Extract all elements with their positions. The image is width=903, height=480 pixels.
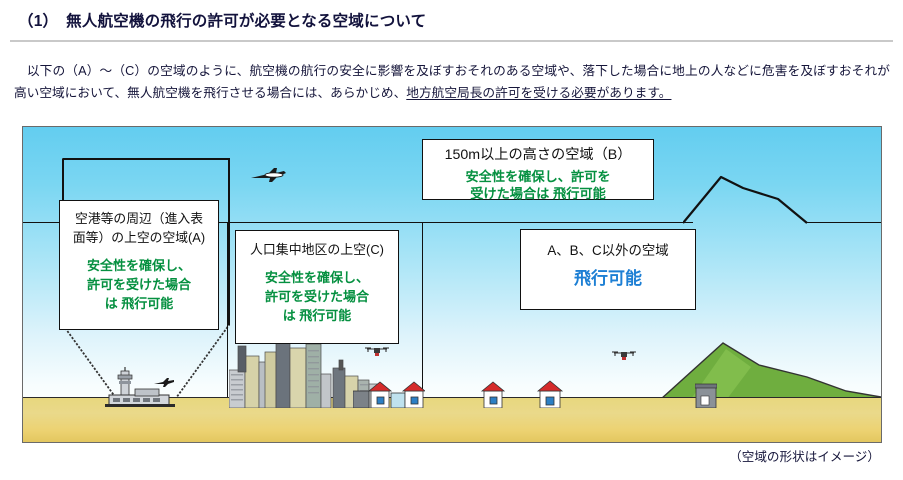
shed-icon	[695, 381, 717, 408]
altitude-150m-mountain-peak-line	[683, 157, 823, 227]
zone-a-heading-line2: 面等）の上空の空域(A)	[60, 228, 218, 247]
hill-icon	[631, 339, 881, 399]
houses-center-icon	[353, 379, 425, 408]
altitude-150m-line-middle	[212, 222, 693, 223]
page-title: （1） 無人航空機の飛行の許可が必要となる空域について	[18, 9, 426, 31]
zone-c-status-line1: 安全性を確保し、	[236, 268, 398, 287]
callout-box-other-airspace: A、B、C以外の空域 飛行可能	[520, 229, 696, 310]
zone-b-status: 安全性を確保し、許可を 受けた場合は 飛行可能	[423, 168, 653, 202]
intro-paragraph-emphasis: 地方航空局長の許可を受ける必要があります。	[406, 86, 671, 100]
title-divider	[10, 40, 893, 42]
zone-a-status-line3: は 飛行可能	[60, 294, 218, 313]
zone-b-status-line2: 受けた場合は 飛行可能	[423, 185, 653, 202]
callout-box-zone-b: 150m以上の高さの空域（B） 安全性を確保し、許可を 受けた場合は 飛行可能	[422, 139, 654, 200]
airplane-high-icon	[248, 165, 288, 185]
figure-caption: （空域の形状はイメージ）	[0, 446, 880, 465]
airplane-low-icon	[153, 377, 175, 388]
drone-icon	[364, 345, 390, 359]
airspace-diagram: 150m以上の高さの空域（B） 安全性を確保し、許可を 受けた場合は 飛行可能 …	[22, 126, 882, 443]
zone-b-status-line1: 安全性を確保し、許可を	[423, 168, 653, 185]
zone-a-heading: 空港等の周辺（進入表 面等）の上空の空域(A)	[60, 209, 218, 247]
zone-c-heading: 人口集中地区の上空(C)	[236, 240, 398, 259]
zone-a-status-line2: 許可を受けた場合	[60, 275, 218, 294]
intro-paragraph: 以下の（A）～（C）の空域のように、航空機の航行の安全に影響を及ぼすおそれのある…	[14, 60, 890, 104]
other-airspace-status: 飛行可能	[521, 267, 695, 291]
callout-box-zone-c: 人口集中地区の上空(C) 安全性を確保し、 許可を受けた場合 は 飛行可能	[235, 230, 399, 344]
houses-right-icon	[478, 379, 658, 408]
callout-box-zone-a: 空港等の周辺（進入表 面等）の上空の空域(A) 安全性を確保し、 許可を受けた場…	[59, 200, 219, 330]
airspace-zone-c-left-boundary	[227, 222, 228, 410]
drone-icon	[611, 349, 637, 363]
zone-c-status: 安全性を確保し、 許可を受けた場合 は 飛行可能	[236, 268, 398, 325]
zone-c-status-line3: は 飛行可能	[236, 306, 398, 325]
zone-a-status-line1: 安全性を確保し、	[60, 256, 218, 275]
other-airspace-heading: A、B、C以外の空域	[521, 241, 695, 260]
document-page: （1） 無人航空機の飛行の許可が必要となる空域について 以下の（A）～（C）の空…	[0, 0, 903, 480]
zone-a-heading-line1: 空港等の周辺（進入表	[60, 209, 218, 228]
zone-b-heading: 150m以上の高さの空域（B）	[423, 145, 653, 165]
zone-c-status-line2: 許可を受けた場合	[236, 287, 398, 306]
zone-a-status: 安全性を確保し、 許可を受けた場合 は 飛行可能	[60, 256, 218, 313]
